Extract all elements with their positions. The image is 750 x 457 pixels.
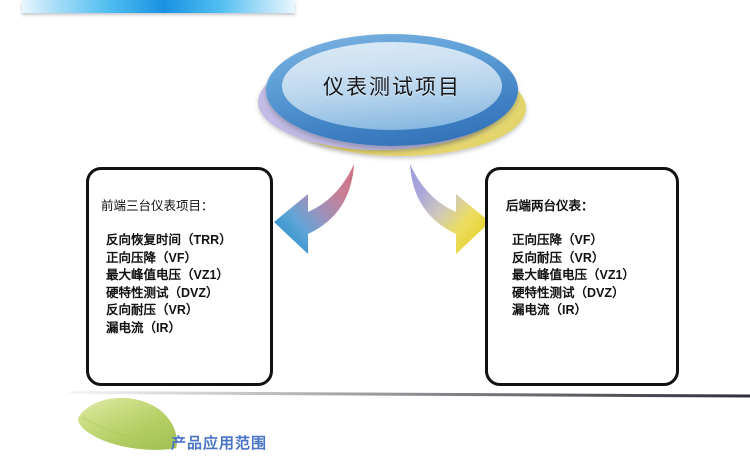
list-item: 漏电流（IR）	[106, 320, 270, 338]
curved-arrow-right-icon	[396, 160, 496, 260]
top-gradient-bar	[22, 0, 295, 13]
list-item: 漏电流（IR）	[512, 302, 676, 320]
leaf-icon	[72, 396, 184, 452]
back-end-instruments-box: 后端两台仪表： 正向压降（VF） 反向耐压（VR） 最大峰值电压（VZ1） 硬特…	[485, 167, 679, 386]
list-item: 反向恢复时间（TRR）	[106, 232, 270, 250]
front-end-item-list: 反向恢复时间（TRR） 正向压降（VF） 最大峰值电压（VZ1） 硬特性测试（D…	[89, 214, 270, 337]
list-item: 硬特性测试（DVZ）	[512, 285, 676, 303]
back-end-heading: 后端两台仪表：	[488, 170, 676, 214]
list-item: 最大峰值电压（VZ1）	[512, 267, 676, 285]
slide-canvas: 仪表测试项目	[0, 0, 750, 455]
curved-arrow-left-icon	[272, 160, 372, 260]
back-end-item-list: 正向压降（VF） 反向耐压（VR） 最大峰值电压（VZ1） 硬特性测试（DVZ）…	[488, 214, 676, 320]
list-item: 反向耐压（VR）	[512, 250, 676, 268]
bottom-section-title: 产品应用范围	[171, 432, 267, 453]
list-item: 正向压降（VF）	[512, 232, 676, 250]
front-end-heading: 前端三台仪表项目：	[89, 170, 270, 214]
center-node: 仪表测试项目	[258, 34, 526, 156]
center-node-title: 仪表测试项目	[282, 42, 502, 130]
list-item: 正向压降（VF）	[106, 250, 270, 268]
front-end-instruments-box: 前端三台仪表项目： 反向恢复时间（TRR） 正向压降（VF） 最大峰值电压（VZ…	[86, 167, 273, 386]
list-item: 最大峰值电压（VZ1）	[106, 267, 270, 285]
list-item: 硬特性测试（DVZ）	[106, 285, 270, 303]
list-item: 反向耐压（VR）	[106, 302, 270, 320]
